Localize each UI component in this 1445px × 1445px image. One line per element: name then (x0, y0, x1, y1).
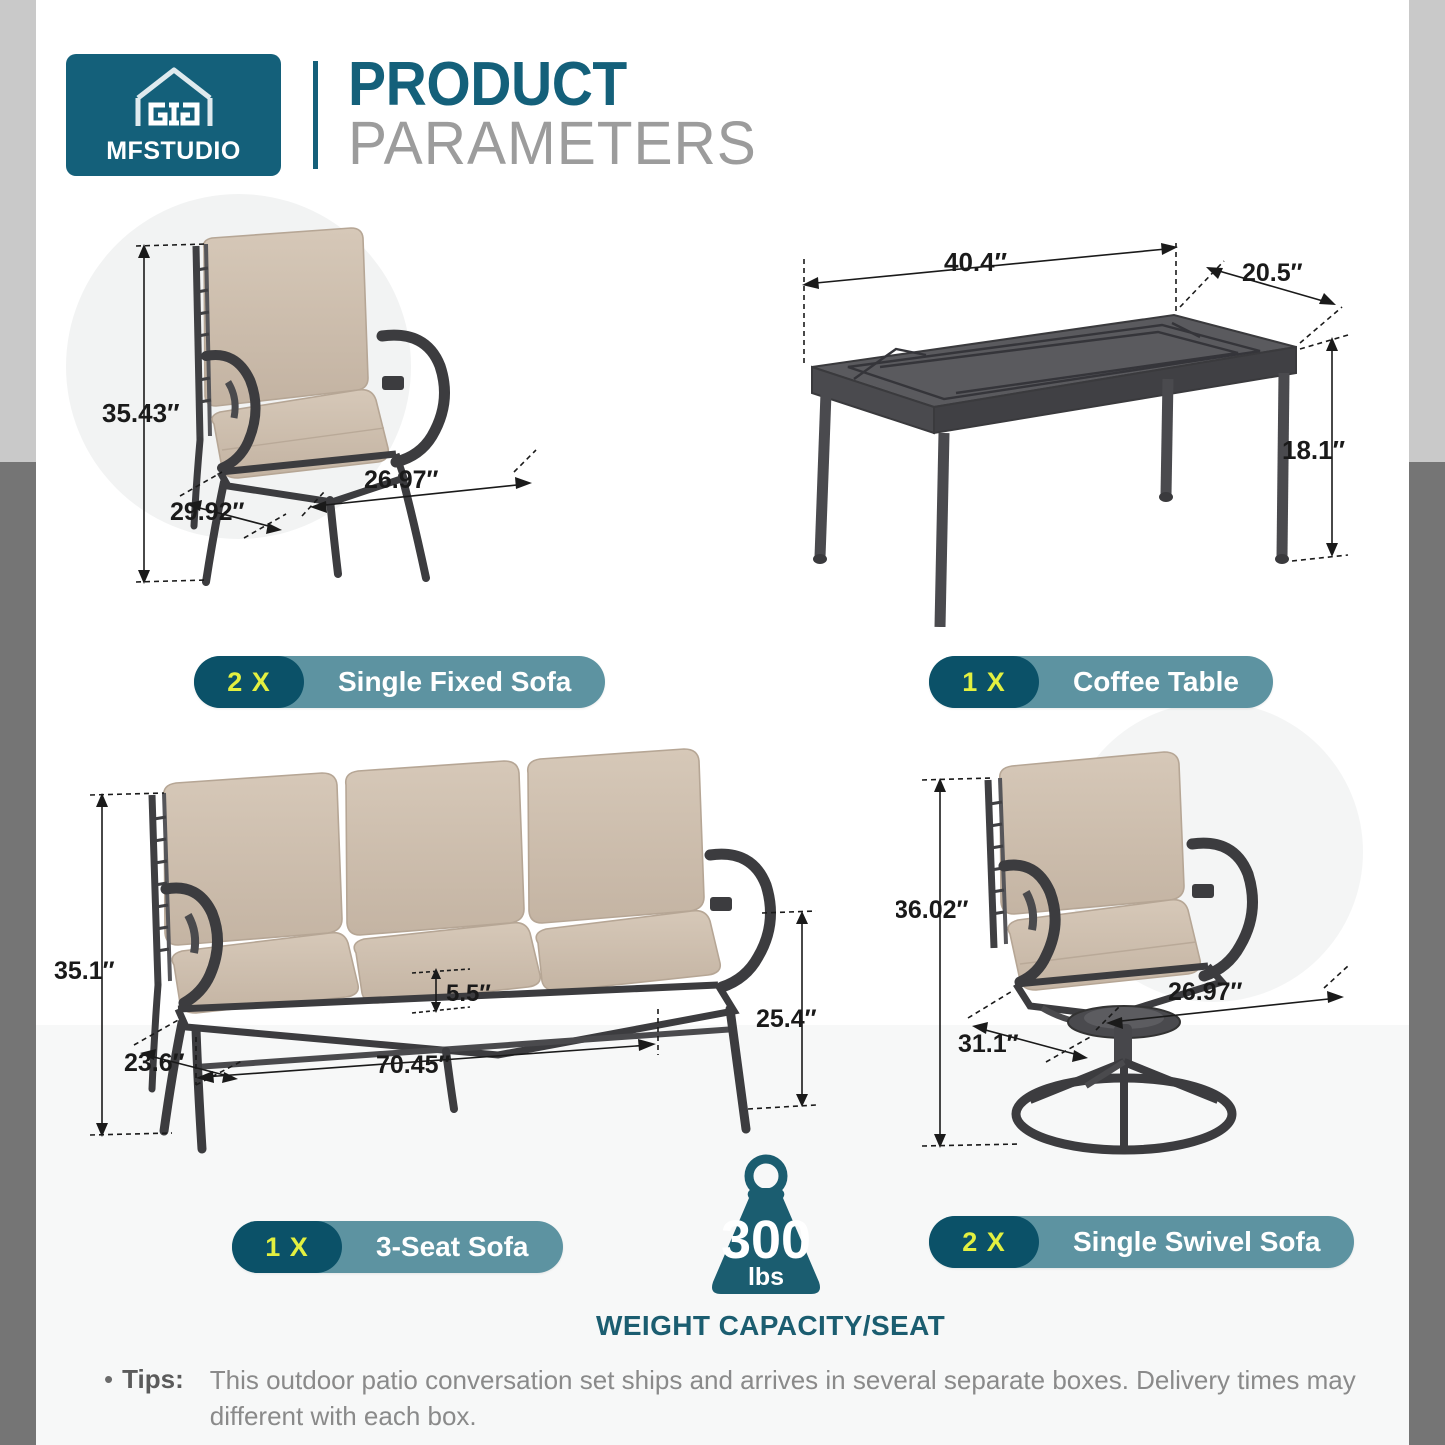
item-label: Single Swivel Sofa (1039, 1226, 1354, 1258)
item-pill-single-swivel-sofa[interactable]: 2 X Single Swivel Sofa (929, 1216, 1354, 1268)
item-label: Single Fixed Sofa (304, 666, 605, 698)
tips-section: • Tips: This outdoor patio conversation … (104, 1362, 1370, 1435)
dimension-depth: 31.1″ (958, 1030, 1019, 1058)
tips-body: This outdoor patio conversation set ship… (210, 1362, 1370, 1435)
dimension-depth: 29.92″ (170, 498, 245, 526)
product-figure-single-fixed-sofa: 35.43″ 29.92″ 26.97″ (96, 210, 696, 630)
item-pill-single-fixed-sofa[interactable]: 2 X Single Fixed Sofa (194, 656, 605, 708)
content-card: MFSTUDIO PRODUCT PARAMETERS (36, 22, 1409, 1445)
item-quantity: 2 X (929, 1216, 1039, 1268)
infographic-page: MFSTUDIO PRODUCT PARAMETERS (0, 0, 1445, 1445)
dimension-arm-height: 25.4″ (756, 1005, 817, 1033)
dimension-height: 35.1″ (54, 957, 115, 985)
item-pill-coffee-table[interactable]: 1 X Coffee Table (929, 656, 1273, 708)
right-gutter-bottom (1409, 462, 1445, 1445)
dimension-height: 36.02″ (896, 896, 969, 924)
left-gutter-bottom (0, 462, 36, 1445)
weight-capacity-block: 300 lbs WEIGHT CAPACITY/SEAT (596, 1154, 936, 1342)
dimension-cushion: 5.5″ (446, 980, 491, 1007)
weight-icon: 300 lbs (691, 1154, 841, 1304)
right-gutter-top (1409, 0, 1445, 462)
dimension-depth: 23.6″ (124, 1049, 185, 1077)
item-pill-three-seat-sofa[interactable]: 1 X 3-Seat Sofa (232, 1221, 563, 1273)
three-seat-sofa-illustration: 35.1″ 23.6″ 70.45″ (46, 737, 846, 1162)
dimension-height: 18.1″ (1282, 435, 1345, 465)
single-swivel-sofa-illustration: 36.02″ 31.1″ 26.97″ (896, 732, 1396, 1162)
dimension-height: 35.43″ (102, 398, 180, 428)
dimension-width: 70.45″ (376, 1051, 451, 1079)
weight-unit: lbs (748, 1263, 784, 1291)
tips-label: Tips: (122, 1362, 184, 1397)
item-quantity: 2 X (194, 656, 304, 708)
dimension-width: 26.97″ (1168, 978, 1243, 1006)
dimension-length: 40.4″ (944, 247, 1007, 277)
item-quantity: 1 X (232, 1221, 342, 1273)
page-title: PRODUCT (348, 56, 740, 113)
item-quantity: 1 X (929, 656, 1039, 708)
dimension-depth: 20.5″ (1242, 259, 1303, 287)
weight-capacity-caption: WEIGHT CAPACITY/SEAT (596, 1310, 936, 1342)
item-label: Coffee Table (1039, 666, 1273, 698)
right-gutter (1409, 0, 1445, 1445)
product-figure-coffee-table: 40.4″ 20.5″ 18.1″ (776, 227, 1376, 627)
tips-bullet: • (104, 1362, 113, 1397)
weight-value: 300 (721, 1210, 811, 1270)
left-gutter (0, 0, 36, 1445)
dimension-width: 26.97″ (364, 466, 439, 494)
product-figure-single-swivel-sofa: 36.02″ 31.1″ 26.97″ (896, 732, 1396, 1162)
product-figure-three-seat-sofa: 35.1″ 23.6″ 70.45″ (46, 737, 846, 1162)
page-header: MFSTUDIO PRODUCT PARAMETERS (66, 54, 774, 176)
item-label: 3-Seat Sofa (342, 1231, 563, 1263)
header-divider (313, 61, 318, 169)
single-fixed-sofa-illustration: 35.43″ 29.92″ 26.97″ (96, 210, 696, 630)
coffee-table-illustration: 40.4″ 20.5″ 18.1″ (776, 227, 1376, 627)
brand-name: MFSTUDIO (106, 137, 241, 166)
page-subtitle: PARAMETERS (348, 113, 757, 174)
left-gutter-top (0, 0, 36, 462)
house-monogram-icon (120, 64, 228, 136)
brand-logo: MFSTUDIO (66, 54, 281, 176)
